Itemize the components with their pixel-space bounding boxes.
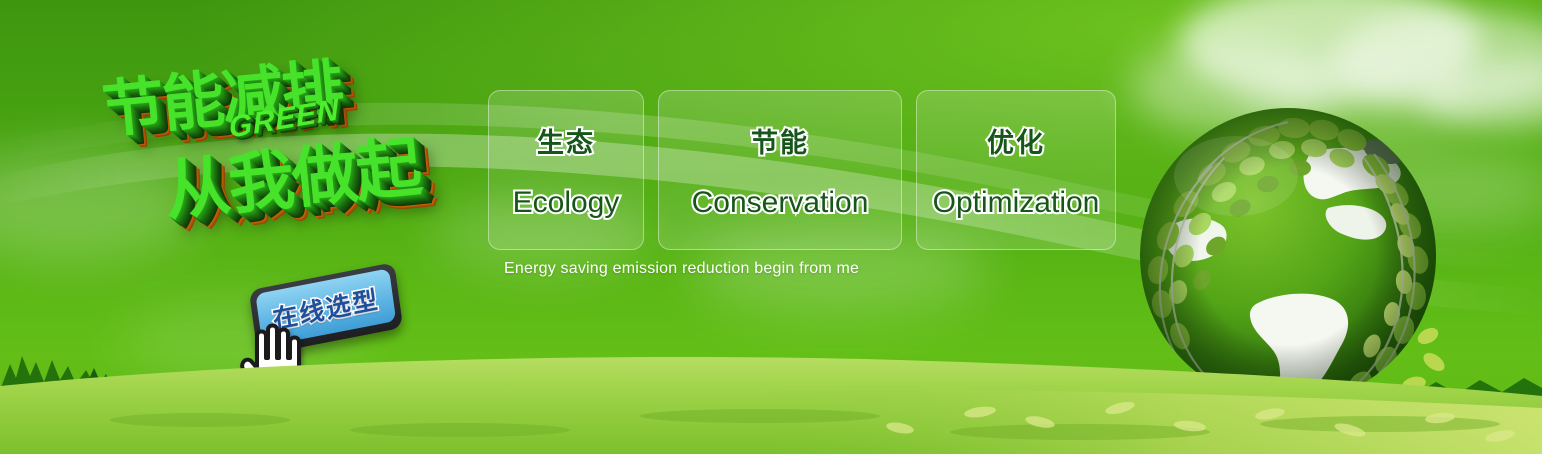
eco-promo-banner: 节能减排 从我做起 GREEN 在线选型 生态 Ecology 节能 Conse…: [0, 0, 1542, 454]
feature-card-cn-label: 优化: [987, 121, 1045, 160]
feature-card-en-label: Optimization: [933, 186, 1100, 220]
leafy-globe-icon: [1128, 96, 1458, 426]
headline-3d: 节能减排 从我做起 GREEN: [90, 24, 490, 289]
feature-card-en-label: Conservation: [692, 186, 869, 220]
feature-card-list: 生态 Ecology 节能 Conservation 优化 Optimizati…: [488, 90, 1116, 250]
feature-card-en-label: Ecology: [513, 186, 620, 220]
tagline-text: Energy saving emission reduction begin f…: [504, 260, 859, 278]
feature-card-cn-label: 节能: [751, 121, 809, 160]
feature-card-ecology[interactable]: 生态 Ecology: [488, 90, 644, 250]
hand-pointer-icon: [238, 320, 312, 406]
feature-card-cn-label: 生态: [537, 121, 595, 160]
feature-card-conservation[interactable]: 节能 Conservation: [658, 90, 902, 250]
feature-card-optimization[interactable]: 优化 Optimization: [916, 90, 1116, 250]
